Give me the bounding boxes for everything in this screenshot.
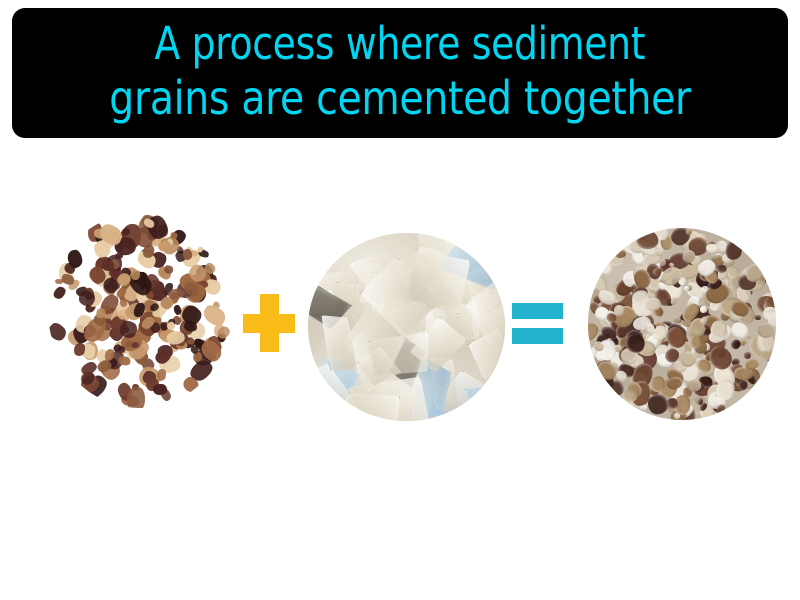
sandstone-texture (588, 228, 776, 420)
sediment-grain (156, 368, 168, 382)
title-banner: A process where sediment grains are ceme… (12, 8, 788, 138)
sediment-grains-image (48, 213, 232, 408)
sediment-grain (52, 285, 68, 301)
title-line-2: grains are cemented together (109, 71, 691, 126)
cement-texture (308, 233, 505, 421)
sandstone-grain (716, 265, 726, 273)
sandstone-grain (614, 250, 625, 258)
sandstone-grain (647, 394, 669, 415)
sandstone-grain (644, 297, 661, 311)
sandstone-grain (744, 334, 751, 339)
mineral-cement-image (308, 233, 505, 421)
sandstone-grain (684, 286, 689, 291)
equals-top-bar (512, 303, 563, 319)
sandstone-grain (699, 306, 706, 313)
cemented-sandstone-image (588, 228, 776, 420)
sediment-texture (48, 213, 232, 408)
sandstone-grain (705, 243, 719, 253)
equals-operator-icon (512, 303, 563, 348)
sediment-grain (201, 301, 229, 329)
title-line-1: A process where sediment (155, 16, 646, 71)
plus-vertical-bar (260, 294, 279, 352)
equation-row (0, 205, 800, 420)
slide-canvas: A process where sediment grains are ceme… (0, 0, 800, 600)
sediment-grain (126, 386, 146, 408)
sediment-grain (153, 384, 167, 395)
equals-bottom-bar (512, 328, 563, 344)
sediment-grain (48, 320, 69, 343)
plus-operator-icon (243, 294, 295, 352)
